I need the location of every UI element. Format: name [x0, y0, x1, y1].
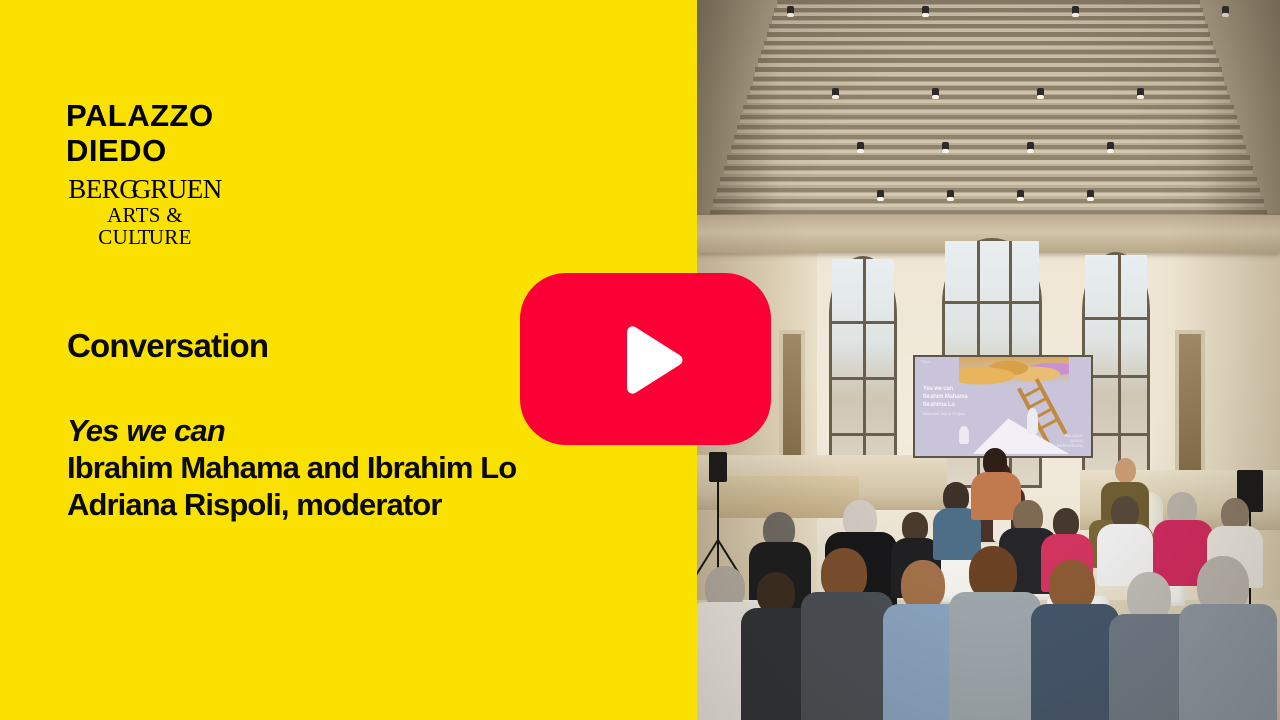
logo-berggruen-part-b: RUEN	[150, 174, 222, 204]
screen-text-block: Yes we can Ibrahim Mahama Ibrahima Lo Nk…	[923, 385, 968, 417]
mullion	[832, 377, 894, 380]
screen-title: Yes we can	[923, 385, 968, 393]
logo-line-palazzo: PALAZZO	[66, 100, 306, 131]
logo-line-diedo: DIEDO	[66, 135, 306, 166]
wooden-bench	[719, 476, 859, 518]
play-button[interactable]	[520, 273, 771, 445]
event-photograph: TALK Yes we can Ibrahim Mahama Ibrahima …	[697, 0, 1280, 720]
logo-berggruen: BERGGRUEN	[66, 175, 224, 203]
mullion	[863, 259, 866, 481]
play-triangle-icon	[613, 322, 689, 398]
screen-figure-left	[959, 426, 969, 444]
screen-name-2: Ibrahima Lo	[923, 401, 968, 409]
logo-berggruen-gg-ligature: GG	[119, 174, 150, 204]
mullion	[1085, 375, 1147, 378]
screen-logo: PALAZZO DIEDO BERGGRUEN	[1057, 433, 1083, 448]
screen-logo-line3: BERGGRUEN	[1057, 443, 1083, 448]
event-participants: Ibrahim Mahama and Ibrahim Lo	[67, 449, 677, 486]
logo-berggruen-part-a: BER	[68, 174, 119, 204]
screen-name-1: Ibrahim Mahama	[923, 393, 968, 401]
pa-speaker-left	[709, 452, 727, 482]
event-moderator: Adriana Rispoli, moderator	[67, 486, 677, 523]
logo-arts-lt-ligature: LT	[128, 225, 149, 249]
mullion	[832, 321, 894, 324]
ceiling-shading	[697, 0, 1280, 250]
palazzo-diedo-logo: PALAZZO DIEDO BERGGRUEN ARTS & CULTURE	[66, 100, 306, 248]
mullion	[1118, 255, 1121, 481]
mullion	[832, 433, 894, 436]
logo-arts-and-culture: ARTS & CULTURE	[66, 204, 224, 248]
window-left	[829, 256, 897, 484]
screen-figure-right	[1027, 408, 1038, 434]
video-thumbnail: TALK Yes we can Ibrahim Mahama Ibrahima …	[0, 0, 1280, 720]
screen-tag: TALK	[921, 360, 931, 364]
presentation-screen: TALK Yes we can Ibrahim Mahama Ibrahima …	[913, 355, 1093, 458]
window-sky	[1085, 255, 1147, 481]
mullion	[945, 301, 1039, 304]
mullion	[1085, 317, 1147, 320]
mullion	[1085, 433, 1147, 436]
screen-subtitle: Nkrumah Voli-ni Project	[923, 411, 968, 417]
logo-arts-part-b: URE	[149, 225, 192, 249]
